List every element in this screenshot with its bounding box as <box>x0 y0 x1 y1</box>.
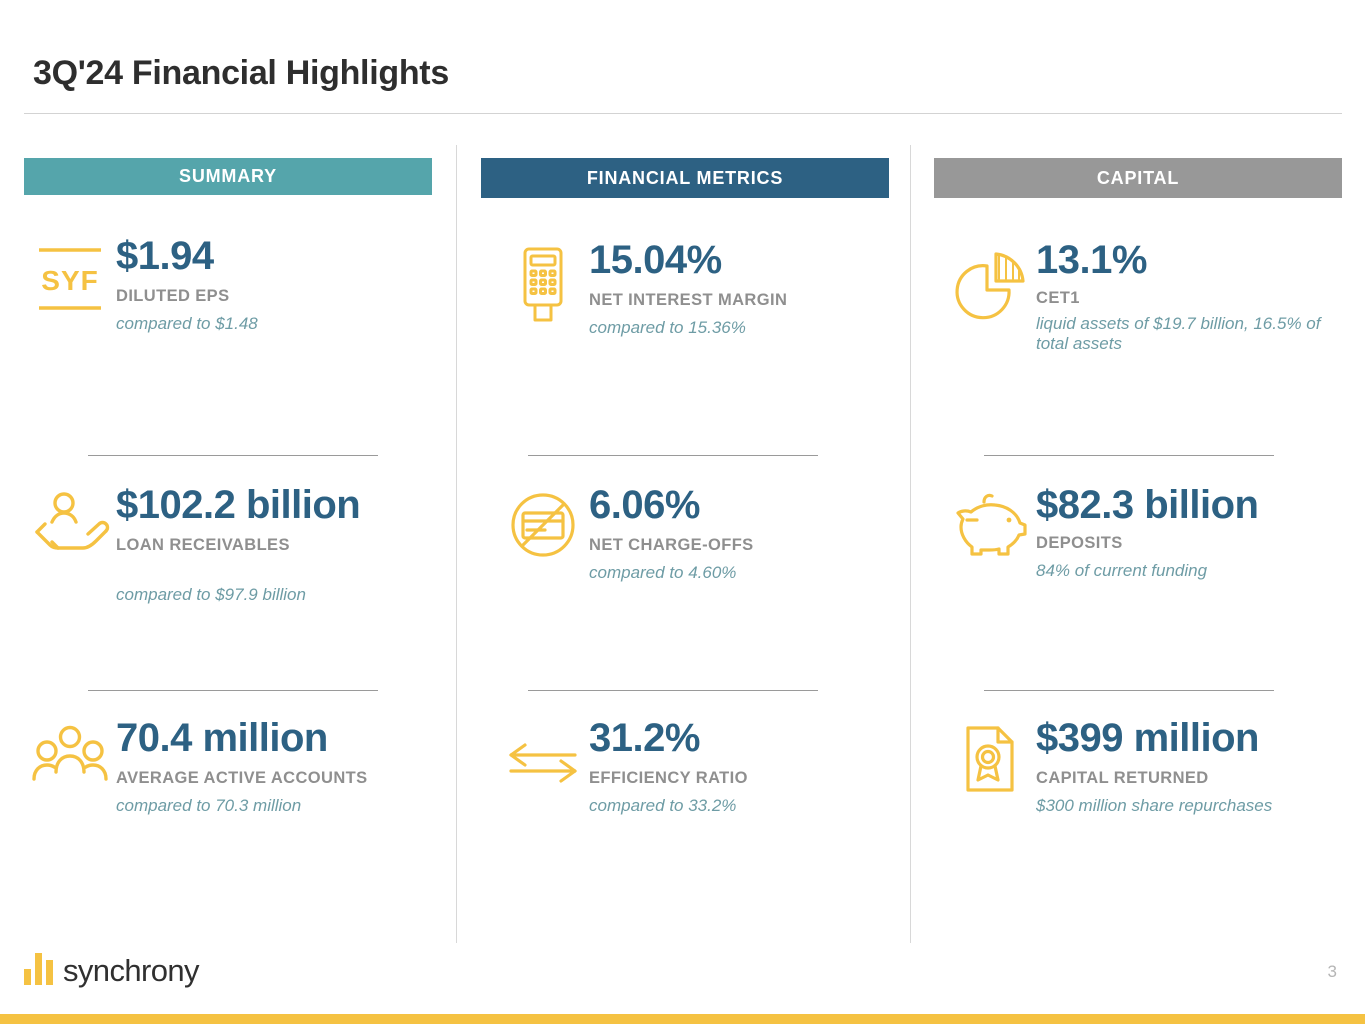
metric-value: 6.06% <box>589 485 897 525</box>
metric-value: $102.2 billion <box>116 485 432 525</box>
metric-body: 70.4 million AVERAGE ACTIVE ACCOUNTS com… <box>116 718 444 816</box>
metric-value: 13.1% <box>1036 240 1354 280</box>
column-divider-1 <box>456 145 457 943</box>
metric-capital-returned: $399 million CAPITAL RETURNED $300 milli… <box>944 718 1354 816</box>
column-financial-metrics: FINANCIAL METRICS <box>481 158 889 198</box>
metric-label: CAPITAL RETURNED <box>1036 769 1354 788</box>
row-separator <box>88 455 378 456</box>
metric-note: liquid assets of $19.7 billion, 16.5% of… <box>1036 314 1336 355</box>
title-divider <box>24 113 1342 114</box>
row-separator <box>528 455 818 456</box>
metric-deposits: $82.3 billion DEPOSITS 84% of current fu… <box>944 485 1354 581</box>
metric-body: 31.2% EFFICIENCY RATIO compared to 33.2% <box>589 718 897 816</box>
metric-value: $399 million <box>1036 718 1354 758</box>
metric-label: CET1 <box>1036 289 1354 308</box>
metric-value: 31.2% <box>589 718 897 758</box>
metric-body: $1.94 DILUTED EPS compared to $1.48 <box>116 236 432 334</box>
metric-label: NET INTEREST MARGIN <box>589 291 897 310</box>
row-separator <box>88 690 378 691</box>
metric-note: compared to 15.36% <box>589 318 897 338</box>
certificate-award-icon <box>944 718 1036 796</box>
column-summary: SUMMARY <box>24 158 432 195</box>
metric-net-interest-margin: 15.04% NET INTEREST MARGIN compared to 1… <box>497 240 897 338</box>
metric-value: 15.04% <box>589 240 897 280</box>
metric-body: 15.04% NET INTEREST MARGIN compared to 1… <box>589 240 897 338</box>
column-divider-2 <box>910 145 911 943</box>
double-arrow-icon <box>497 718 589 786</box>
metric-label: LOAN RECEIVABLES <box>116 536 432 555</box>
hand-holding-person-icon <box>24 485 116 557</box>
pie-chart-icon <box>944 240 1036 320</box>
three-people-icon <box>24 718 116 786</box>
column-header-financial-metrics: FINANCIAL METRICS <box>481 158 889 198</box>
metric-loan-receivables: $102.2 billion LOAN RECEIVABLES compared… <box>24 485 432 605</box>
metric-body: 6.06% NET CHARGE-OFFS compared to 4.60% <box>589 485 897 583</box>
svg-text:SYF: SYF <box>41 265 98 296</box>
metric-net-charge-offs: 6.06% NET CHARGE-OFFS compared to 4.60% <box>497 485 897 583</box>
column-capital: CAPITAL <box>934 158 1342 198</box>
metric-note: compared to 33.2% <box>589 796 897 816</box>
page-title: 3Q'24 Financial Highlights <box>33 54 449 93</box>
metric-note: 84% of current funding <box>1036 561 1354 581</box>
row-separator <box>528 690 818 691</box>
metric-label: AVERAGE ACTIVE ACCOUNTS <box>116 769 444 788</box>
card-declined-icon <box>497 485 589 559</box>
metric-label: DEPOSITS <box>1036 534 1354 553</box>
piggy-bank-icon <box>944 485 1036 557</box>
metric-note: $300 million share repurchases <box>1036 796 1354 816</box>
metric-label: NET CHARGE-OFFS <box>589 536 897 555</box>
metric-average-active-accounts: 70.4 million AVERAGE ACTIVE ACCOUNTS com… <box>24 718 444 816</box>
synchrony-logo: synchrony <box>24 947 199 987</box>
metric-body: $82.3 billion DEPOSITS 84% of current fu… <box>1036 485 1354 581</box>
metric-note: compared to $97.9 billion <box>116 585 432 605</box>
row-separator <box>984 690 1274 691</box>
metric-value: $1.94 <box>116 236 432 276</box>
metric-label: EFFICIENCY RATIO <box>589 769 897 788</box>
card-reader-terminal-icon <box>497 240 589 324</box>
column-header-summary: SUMMARY <box>24 158 432 195</box>
metric-body: $399 million CAPITAL RETURNED $300 milli… <box>1036 718 1354 816</box>
metric-value: 70.4 million <box>116 718 444 758</box>
metric-body: 13.1% CET1 liquid assets of $19.7 billio… <box>1036 240 1354 355</box>
syf-logo-icon: SYF <box>24 236 116 316</box>
row-separator <box>984 455 1274 456</box>
metric-note: compared to 70.3 million <box>116 796 444 816</box>
column-header-capital: CAPITAL <box>934 158 1342 198</box>
metric-note: compared to 4.60% <box>589 563 897 583</box>
metric-efficiency-ratio: 31.2% EFFICIENCY RATIO compared to 33.2% <box>497 718 897 816</box>
page-number: 3 <box>1328 962 1337 982</box>
metric-label: DILUTED EPS <box>116 287 432 306</box>
metric-body: $102.2 billion LOAN RECEIVABLES compared… <box>116 485 432 605</box>
logo-wordmark: synchrony <box>63 955 199 986</box>
logo-bars-icon <box>24 953 53 985</box>
footer-accent-bar <box>0 1014 1365 1024</box>
metric-note: compared to $1.48 <box>116 314 432 334</box>
metric-value: $82.3 billion <box>1036 485 1354 525</box>
metric-diluted-eps: SYF $1.94 DILUTED EPS compared to $1.48 <box>24 236 432 334</box>
metric-cet1: 13.1% CET1 liquid assets of $19.7 billio… <box>944 240 1354 355</box>
